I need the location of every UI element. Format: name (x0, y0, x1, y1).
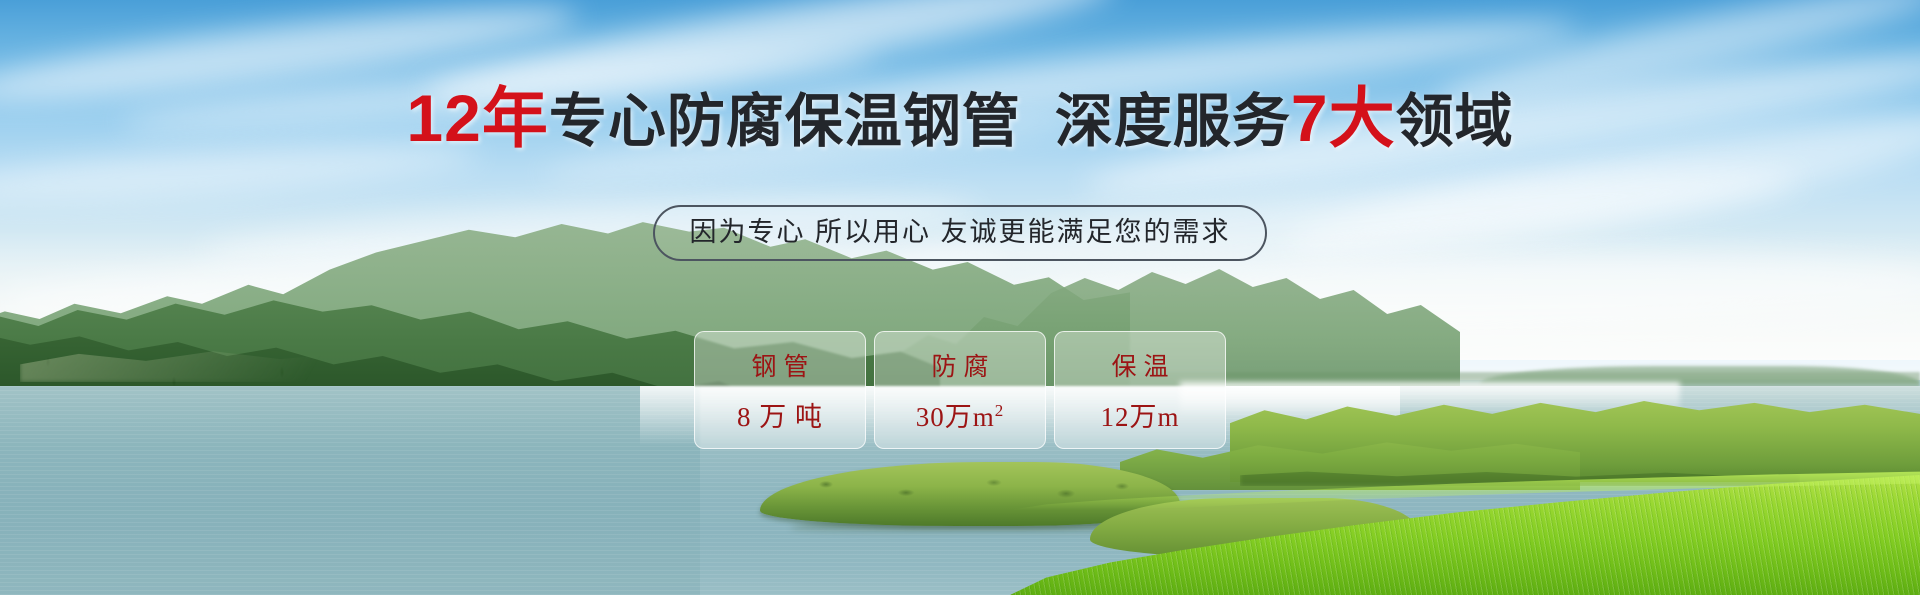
stat-card-title: 钢管 (744, 347, 815, 383)
headline: 12年专心防腐保温钢管深度服务7大领域 (0, 86, 1920, 154)
stat-card-insulation: 保温 12万m (1054, 331, 1226, 449)
subtitle-pill: 因为专心 所以用心 友诚更能满足您的需求 (653, 205, 1266, 261)
headline-fields-text: 领域 (1396, 89, 1514, 154)
promotional-banner: 12年专心防腐保温钢管深度服务7大领域 因为专心 所以用心 友诚更能满足您的需求… (0, 0, 1920, 595)
stat-value-text: 12万m (1100, 402, 1179, 432)
headline-years: 12年 (406, 81, 548, 155)
stat-value-text: 30万m (916, 402, 995, 432)
stat-card-title: 保温 (1104, 347, 1175, 383)
stat-card-value: 30万m2 (916, 395, 1005, 434)
stat-card-value: 8 万 吨 (737, 395, 823, 434)
stat-card-title: 防腐 (924, 347, 995, 383)
headline-main-text: 专心防腐保温钢管 (549, 89, 1021, 154)
subtitle-container: 因为专心 所以用心 友诚更能满足您的需求 (0, 205, 1920, 261)
stats-card-group: 钢管 8 万 吨 防腐 30万m2 保温 12万m (0, 331, 1920, 449)
stat-card-anticorrosion: 防腐 30万m2 (874, 331, 1046, 449)
banner-content: 12年专心防腐保温钢管深度服务7大领域 因为专心 所以用心 友诚更能满足您的需求… (0, 0, 1920, 595)
stat-value-text: 8 万 吨 (737, 402, 823, 432)
stat-card-value: 12万m (1100, 395, 1179, 434)
headline-fields-count: 7大 (1291, 81, 1396, 155)
headline-service-text: 深度服务 (1055, 89, 1291, 154)
stat-value-superscript: 2 (995, 401, 1005, 420)
stat-card-steel-pipe: 钢管 8 万 吨 (694, 331, 866, 449)
